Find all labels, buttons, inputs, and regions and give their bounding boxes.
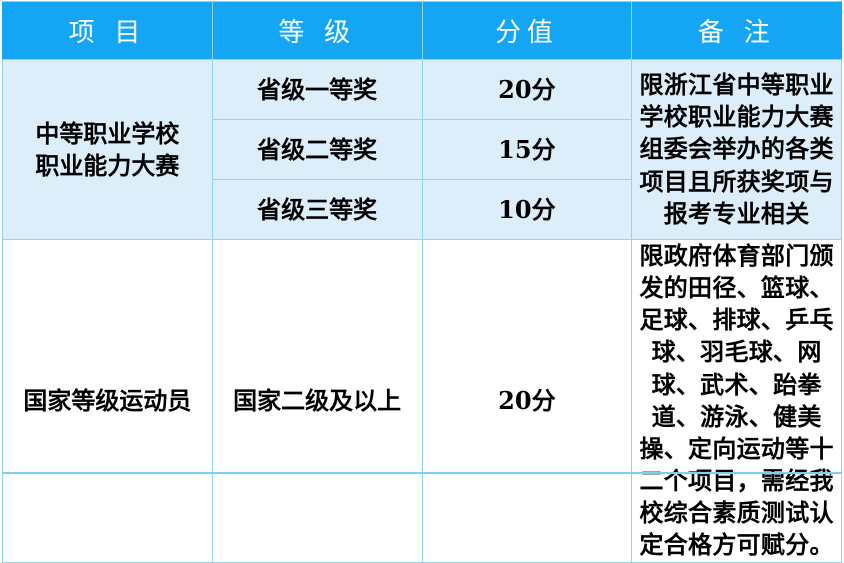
header-remark: 备 注	[632, 2, 842, 60]
cell-remark-national-athlete: 限政府体育部门颁发的田径、篮球、足球、排球、乒乓球、羽毛球、网球、武术、跆拳道、…	[632, 240, 842, 563]
cell-project-vocational-competition: 中等职业学校 职业能力大赛	[3, 60, 213, 240]
table-row: 中等职业学校 职业能力大赛 省级一等奖 20分 限浙江省中等职业学校职业能力大赛…	[3, 60, 842, 120]
header-project: 项 目	[3, 2, 213, 60]
table-header: 项 目 等 级 分值 备 注	[3, 2, 842, 60]
score-table-page: 项 目 等 级 分值 备 注 中等职业学校 职业能力大赛 省级一等奖 20分 限…	[0, 1, 844, 479]
cell-remark-vocational-competition: 限浙江省中等职业学校职业能力大赛组委会举办的各类项目且所获奖项与报考专业相关	[632, 60, 842, 240]
header-row: 项 目 等 级 分值 备 注	[3, 2, 842, 60]
cell-score-provincial-first: 20分	[422, 60, 632, 120]
project-line-2: 职业能力大赛	[3, 150, 212, 182]
table-bottom-rule	[2, 472, 842, 474]
cell-project-national-athlete: 国家等级运动员	[3, 240, 213, 563]
project-line-1: 中等职业学校	[3, 118, 212, 150]
cell-grade-national-level-two: 国家二级及以上	[212, 240, 422, 563]
table-body: 中等职业学校 职业能力大赛 省级一等奖 20分 限浙江省中等职业学校职业能力大赛…	[3, 60, 842, 563]
table-row: 国家等级运动员 国家二级及以上 20分 限政府体育部门颁发的田径、篮球、足球、排…	[3, 240, 842, 563]
cell-grade-provincial-third: 省级三等奖	[212, 180, 422, 240]
header-grade: 等 级	[212, 2, 422, 60]
bonus-score-table: 项 目 等 级 分值 备 注 中等职业学校 职业能力大赛 省级一等奖 20分 限…	[2, 1, 842, 563]
cell-grade-provincial-second: 省级二等奖	[212, 120, 422, 180]
cell-score-national-level-two: 20分	[422, 240, 632, 563]
cell-grade-provincial-first: 省级一等奖	[212, 60, 422, 120]
cell-score-provincial-second: 15分	[422, 120, 632, 180]
header-score: 分值	[422, 2, 632, 60]
cell-score-provincial-third: 10分	[422, 180, 632, 240]
